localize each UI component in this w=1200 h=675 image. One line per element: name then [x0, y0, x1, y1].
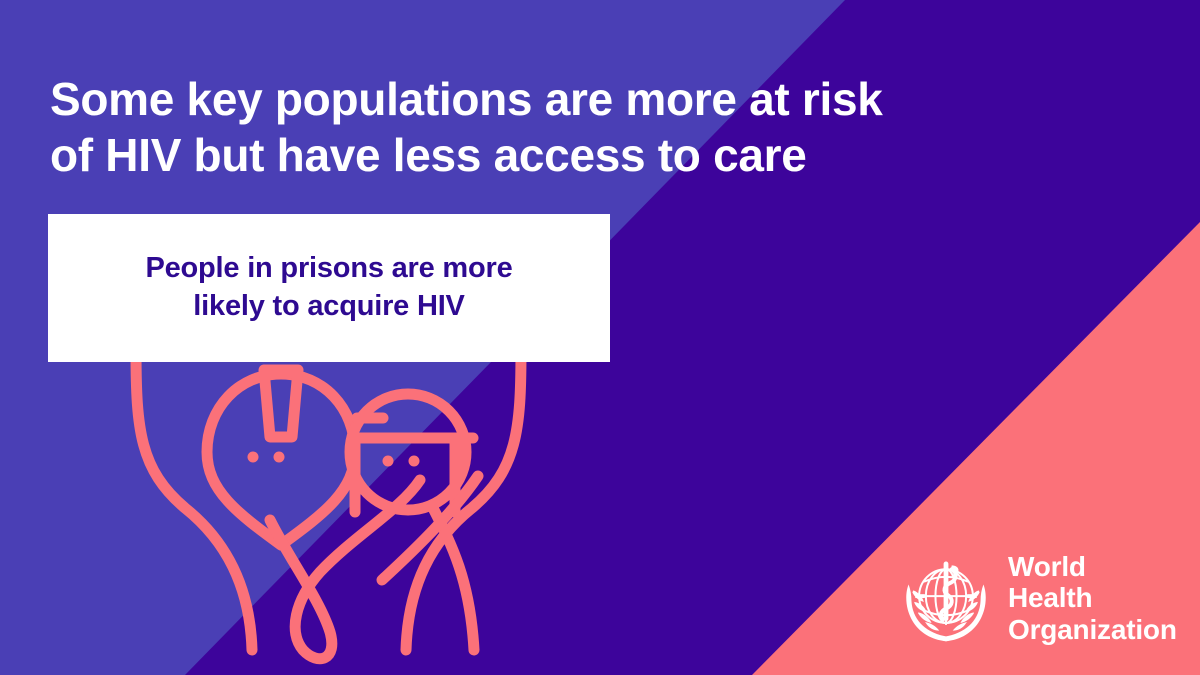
callout-card: People in prisons are more likely to acq…: [48, 214, 610, 362]
who-wordmark-text: World Health Organization: [1008, 551, 1177, 645]
headline-text: Some key populations are more at risk of…: [50, 71, 1120, 184]
who-logo: World Health Organization: [898, 548, 1160, 648]
callout-card-text: People in prisons are more likely to acq…: [145, 250, 512, 325]
who-emblem-icon: [898, 550, 994, 646]
infographic-canvas: Some key populations are more at risk of…: [0, 0, 1200, 675]
